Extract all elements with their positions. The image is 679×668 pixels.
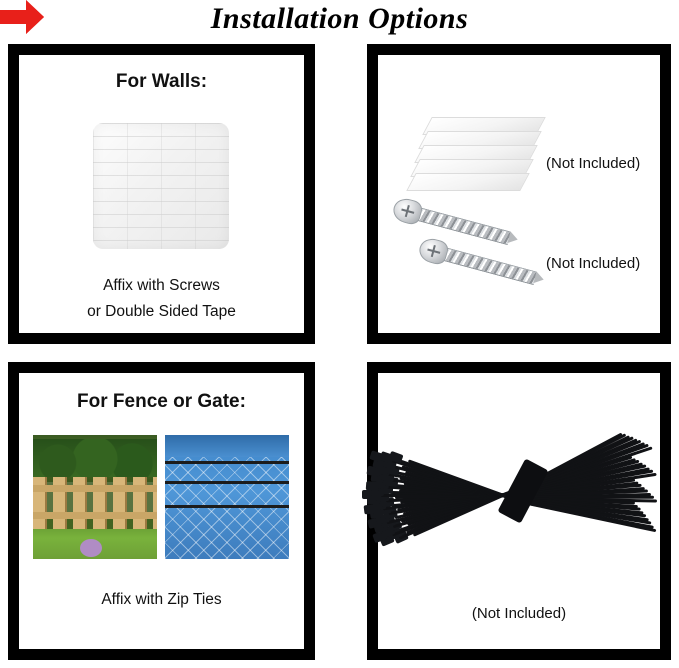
tape-not-included-note: (Not Included) (546, 155, 640, 172)
photo-rail (33, 512, 157, 519)
panel-for-walls: For Walls: Affix with Screws or Double S… (8, 44, 315, 344)
panel-zip-ties: (Not Included) (367, 362, 671, 660)
walls-caption-line-2: or Double Sided Tape (19, 303, 304, 321)
double-sided-tape-stack-image (405, 115, 555, 197)
photo-foreground-object (80, 539, 102, 557)
black-zip-ties-bundle-image (386, 415, 654, 595)
walls-caption-line-1: Affix with Screws (19, 277, 304, 295)
fence-caption-line-1: Affix with Zip Ties (19, 591, 304, 609)
screw-tip (533, 271, 545, 285)
walls-heading: For Walls: (19, 71, 304, 93)
photo-wire (165, 481, 289, 484)
white-brick-wall-swatch-image (93, 123, 229, 249)
chain-link-fence-photo (165, 435, 289, 559)
screw-not-included-note: (Not Included) (546, 255, 640, 272)
screw-head (417, 236, 450, 266)
zipties-not-included-note: (Not Included) (378, 605, 660, 622)
fence-heading: For Fence or Gate: (19, 391, 304, 413)
photo-top-band (165, 435, 289, 457)
screw-tip (507, 231, 519, 245)
screw-shaft (437, 246, 537, 285)
wood-screw-image (391, 196, 513, 248)
photo-hedge (33, 439, 157, 479)
installation-options-diagram: Installation Options For Walls: Affix wi… (0, 0, 679, 668)
photo-wire (165, 461, 289, 464)
wood-screw-image (417, 236, 539, 288)
panel-wall-hardware: (Not Included) (Not Included) (367, 44, 671, 344)
page-title: Installation Options (0, 2, 679, 36)
photo-rail (33, 485, 157, 492)
screw-head (391, 196, 424, 226)
arrow-head (26, 0, 44, 34)
arrow-shaft (0, 10, 28, 24)
tape-slab (406, 173, 530, 191)
panel-for-fence-or-gate: For Fence or Gate: Affix with Zip Ties (8, 362, 315, 660)
photo-wire (165, 505, 289, 508)
wooden-picket-fence-photo (33, 435, 157, 559)
